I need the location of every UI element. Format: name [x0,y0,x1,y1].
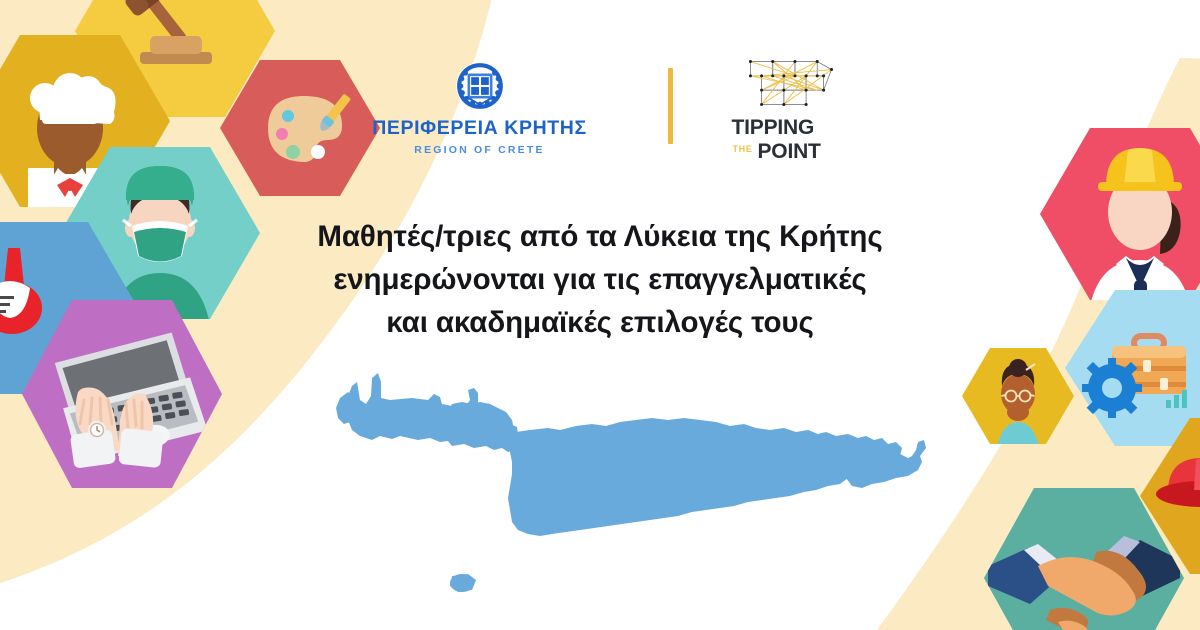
region-name-english: REGION OF CRETE [414,145,544,156]
headline-line-1: Μαθητές/τριες από τα Λύκεια της Κρήτης [250,215,950,258]
tp-line-tipping: TIPPING [732,117,815,138]
headline: Μαθητές/τριες από τα Λύκεια της Κρήτης ε… [250,215,950,344]
tipping-point-wordmark: TIPPING THE POINT [732,117,850,163]
headline-line-3: και ακαδημαϊκές επιλογές τους [250,301,950,344]
logo-bar: ΠΕΡΙΦΕΡΕΙΑ ΚΡΗΤΗΣ REGION OF CRETE [0,52,1200,163]
greek-coat-of-arms-icon [454,60,506,112]
logo-tipping-point[interactable]: TIPPING THE POINT [711,52,871,163]
logo-divider [668,68,673,144]
logo-region-of-crete[interactable]: ΠΕΡΙΦΕΡΕΙΑ ΚΡΗΤΗΣ REGION OF CRETE [330,60,630,155]
region-name-greek: ΠΕΡΙΦΕΡΕΙΑ ΚΡΗΤΗΣ [372,119,587,139]
tp-line-the: THE [733,145,753,154]
tipping-point-network-mark [739,52,843,114]
headline-line-2: ενημερώνονται για τις επαγγελματικές [250,258,950,301]
poster-canvas: ΠΕΡΙΦΕΡΕΙΑ ΚΡΗΤΗΣ REGION OF CRETE [0,0,1200,630]
tp-line-point: POINT [758,141,821,162]
